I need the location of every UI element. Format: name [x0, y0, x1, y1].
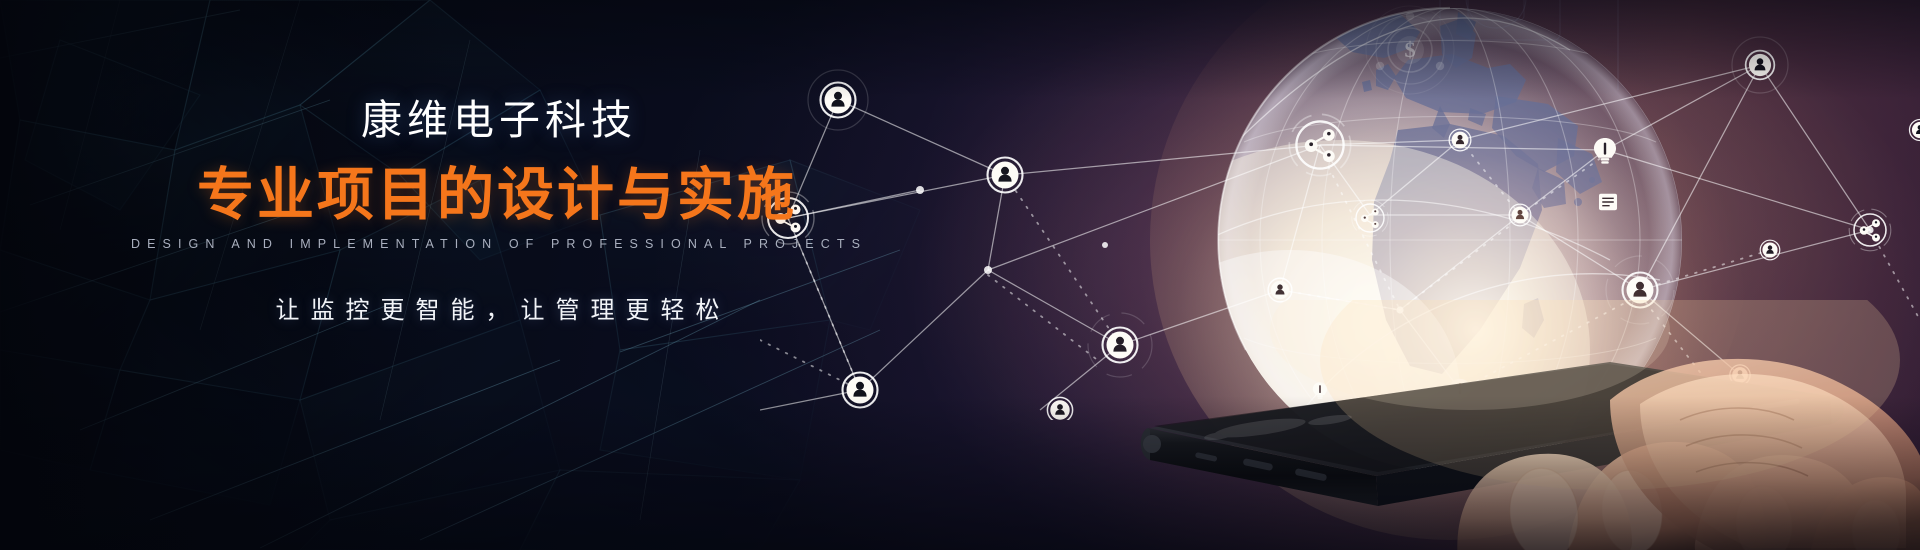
- tagline: 让监控更智能，让管理更轻松: [0, 290, 980, 325]
- share-nodes-icon: [1352, 200, 1388, 236]
- page-title: 专业项目的设计与实施: [0, 166, 980, 226]
- company-name: 康维电子科技: [0, 96, 980, 144]
- person-icon: [1268, 278, 1292, 302]
- document-icon: [1599, 194, 1617, 210]
- network-junction-dots: [916, 186, 1874, 314]
- person-icon: [1509, 204, 1531, 226]
- person-icon: [1449, 129, 1471, 151]
- person-icon: [1910, 120, 1920, 141]
- person-icon: [1103, 328, 1138, 363]
- person-icon: [843, 373, 878, 408]
- person-icon: [1746, 51, 1775, 80]
- english-subtitle: DESIGN AND IMPLEMENTATION OF PROFESSIONA…: [0, 237, 980, 251]
- lightbulb-icon: [1594, 138, 1616, 164]
- dollar-icon: [1366, 6, 1454, 94]
- person-icon: [988, 158, 1023, 193]
- person-icon: [1760, 240, 1780, 260]
- person-icon: [1047, 397, 1072, 420]
- hero-banner: $: [0, 0, 1920, 550]
- hero-text-block: 康维电子科技 专业项目的设计与实施 DESIGN AND IMPLEMENTAT…: [0, 96, 980, 325]
- hand-holding-smartphone: [1140, 300, 1920, 550]
